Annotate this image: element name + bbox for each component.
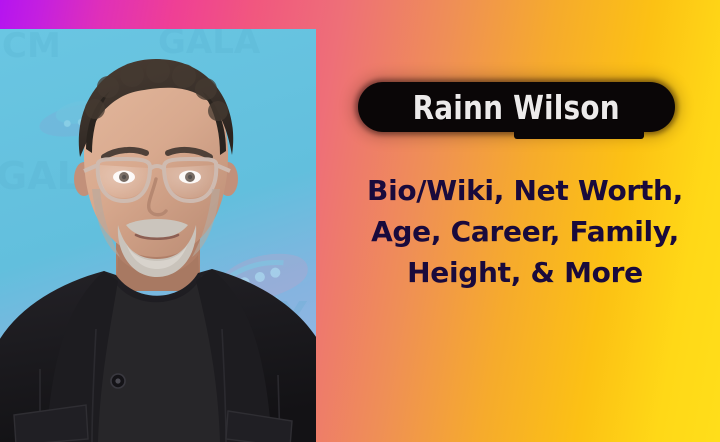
celebrity-profile-thumbnail: CM GALA GALA XY — [0, 0, 720, 442]
celebrity-name-label: Rainn Wilson — [413, 88, 620, 127]
text-content-panel: Rainn Wilson Bio/Wiki, Net Worth, Age, C… — [330, 0, 720, 442]
subtitle-block: Bio/Wiki, Net Worth, Age, Career, Family… — [330, 170, 720, 293]
portrait-photo: CM GALA GALA XY — [0, 29, 316, 442]
svg-text:CM: CM — [2, 29, 61, 66]
celebrity-name-badge: Rainn Wilson — [358, 82, 675, 132]
portrait-photo-illustration: CM GALA GALA XY — [0, 29, 316, 442]
name-badge-tab-decoration — [514, 126, 644, 139]
subtitle-line-3: Height, & More — [330, 252, 720, 293]
subtitle-line-2: Age, Career, Family, — [330, 211, 720, 252]
svg-text:GALA: GALA — [158, 29, 261, 62]
subtitle-line-1: Bio/Wiki, Net Worth, — [330, 170, 720, 211]
